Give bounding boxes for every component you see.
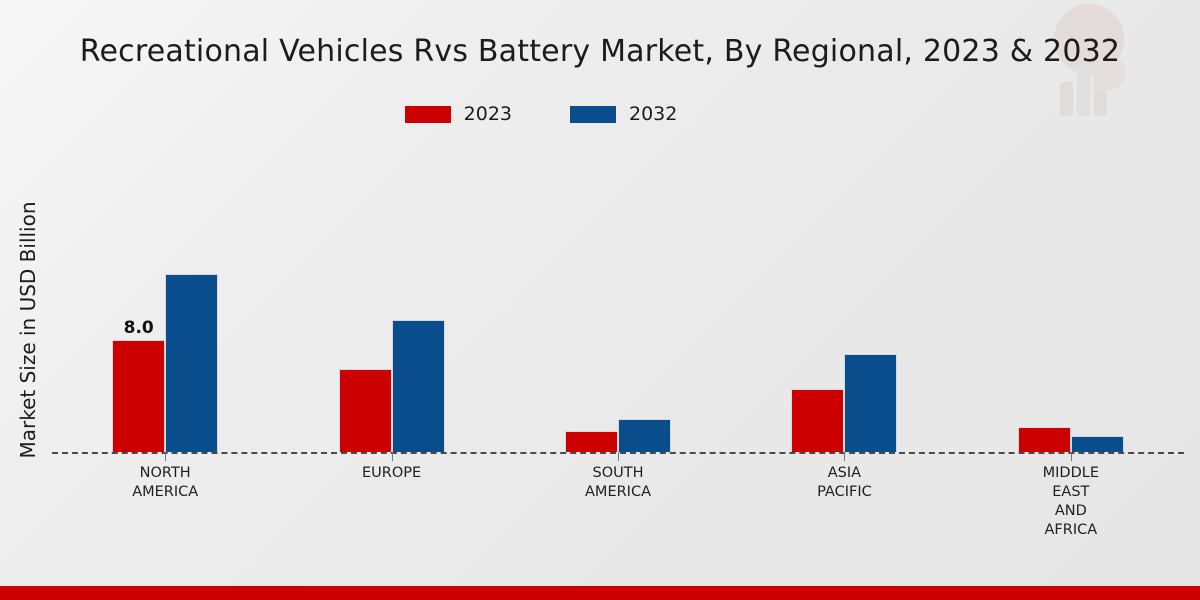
bar-pair — [505, 150, 731, 452]
bar-2032-5[interactable] — [1071, 436, 1124, 452]
x-axis-tick — [165, 452, 166, 461]
x-axis-tick — [1071, 452, 1072, 461]
bar-2032-1[interactable] — [165, 274, 218, 452]
bar-groups: 8.0NORTH AMERICAEUROPESOUTH AMERICAASIA … — [52, 150, 1184, 452]
chart-title: Recreational Vehicles Rvs Battery Market… — [0, 34, 1200, 69]
bar-2023-3[interactable] — [565, 431, 618, 452]
footer-accent-bar — [0, 586, 1200, 600]
bar-group: MIDDLE EAST AND AFRICA — [958, 150, 1184, 452]
bar-2032-4[interactable] — [844, 354, 897, 452]
legend-item-2023[interactable]: 2023 — [405, 103, 512, 125]
bar-value-label: 8.0 — [124, 318, 154, 338]
chart-figure: Recreational Vehicles Rvs Battery Market… — [0, 0, 1200, 600]
bar-2023-2[interactable] — [339, 369, 392, 452]
x-axis-category-label: MIDDLE EAST AND AFRICA — [958, 464, 1184, 540]
bar-2023-5[interactable] — [1018, 427, 1071, 452]
bar-group: SOUTH AMERICA — [505, 150, 731, 452]
bar-group: ASIA PACIFIC — [731, 150, 957, 452]
y-axis-label: Market Size in USD Billion — [16, 150, 40, 510]
x-axis-category-label: EUROPE — [278, 464, 504, 483]
bar-pair — [278, 150, 504, 452]
legend-swatch-2032 — [570, 106, 616, 123]
x-axis-category-label: ASIA PACIFIC — [731, 464, 957, 502]
x-axis-category-label: NORTH AMERICA — [52, 464, 278, 502]
bar-pair — [731, 150, 957, 452]
bar-group: EUROPE — [278, 150, 504, 452]
x-axis-tick — [392, 452, 393, 461]
bar-2032-3[interactable] — [618, 419, 671, 452]
x-axis-tick — [618, 452, 619, 461]
plot-area: 8.0NORTH AMERICAEUROPESOUTH AMERICAASIA … — [52, 150, 1184, 550]
legend-swatch-2023 — [405, 106, 451, 123]
chart-legend: 2023 2032 — [0, 103, 1200, 125]
legend-label-2023: 2023 — [464, 103, 512, 125]
legend-label-2032: 2032 — [629, 103, 677, 125]
bar-2023-1[interactable]: 8.0 — [112, 340, 165, 452]
x-axis-category-label: SOUTH AMERICA — [505, 464, 731, 502]
legend-item-2032[interactable]: 2032 — [570, 103, 677, 125]
bar-group: 8.0NORTH AMERICA — [52, 150, 278, 452]
x-axis-tick — [844, 452, 845, 461]
bar-2023-4[interactable] — [791, 389, 844, 452]
bar-2032-2[interactable] — [392, 320, 445, 452]
bar-pair: 8.0 — [52, 150, 278, 452]
bar-pair — [958, 150, 1184, 452]
